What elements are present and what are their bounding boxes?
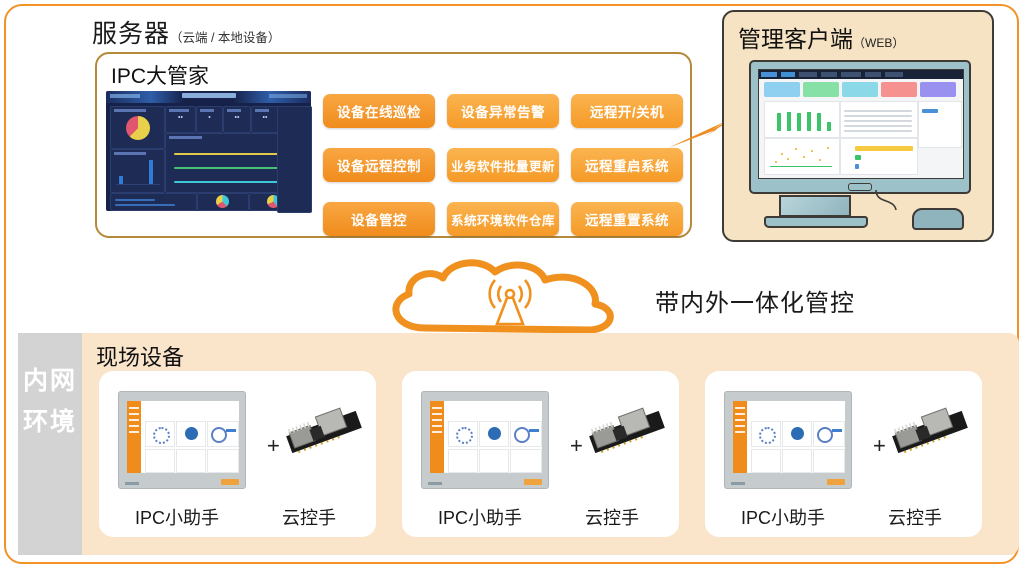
scatter-point [787,158,789,160]
dashboard-pie-card [110,106,165,149]
tablet-label: IPC小助手 [135,504,219,530]
pcb-module [584,403,670,461]
ipc-manager-title: IPC大管家 [111,60,209,90]
progress-bar [855,155,861,160]
web-dashboard-tab[interactable] [781,72,795,77]
mouse-cable [874,188,918,214]
bar [119,176,123,184]
tablet-widget [479,449,509,473]
web-stat-card-red [881,82,917,97]
gauge-icon [759,427,776,444]
web-dashboard-tab[interactable] [799,72,817,77]
tablet-widget [207,449,239,473]
dashboard-stat-card: • [196,106,223,133]
feature-button-batch-update[interactable]: 业务软件批量更新 [447,148,559,182]
tablet-widget [145,449,175,473]
module-label: 云控手 [888,504,942,530]
feature-button-remote-power[interactable]: 远程开/关机 [571,94,683,128]
web-progress-panel [840,138,918,175]
scatter-point [775,161,777,163]
dashboard-stat-card: •• [251,106,279,133]
series-line-yellow [174,153,292,155]
tablet-menu-item[interactable] [129,419,139,421]
tablet-button[interactable] [827,479,845,485]
monitor-stand-neck [779,195,851,217]
card-label [114,152,146,155]
feature-button-device-alarm[interactable]: 设备异常告警 [447,94,559,128]
scatter-point [781,153,783,155]
series-line-cyan [174,181,292,183]
tablet-sidebar [733,401,747,473]
tablet-widget [176,449,206,473]
cloud-shape [385,258,635,336]
table-row [844,120,912,122]
feature-button-grid: 设备在线巡检 设备异常告警 远程开/关机 设备远程控制 业务软件批量更新 远程重… [323,94,683,236]
device-card: + IPC小助手 云控手 [402,371,679,537]
scatter-point [803,156,805,158]
tablet-widget [207,421,239,447]
tablet-widget [145,421,175,447]
bar [777,113,781,131]
tablet-screen [127,401,239,473]
table-row [844,115,912,117]
tablet-menu-item[interactable] [432,407,442,409]
tablet-screen [733,401,845,473]
stat-value: • [208,115,210,122]
gauge-icon [456,427,473,444]
tablet-menu-item[interactable] [735,413,745,415]
tablet-screen [430,401,542,473]
mouse [912,208,964,230]
bar [787,112,791,131]
axis [116,184,160,185]
tablet-widget [813,449,845,473]
web-client-title-main: 管理客户端 [738,26,853,52]
server-title: 服务器（云端 / 本地设备） [92,14,280,50]
feature-button-remote-control[interactable]: 设备远程控制 [323,148,435,182]
dashboard-pie-card [197,193,249,211]
card-label [114,109,146,112]
gauge-icon [211,427,227,443]
web-stat-card-blue [764,82,800,97]
dashboard-topbar-right [269,94,307,98]
series-line-green [174,167,292,169]
gauge-icon [817,427,833,443]
card-label [255,109,269,112]
web-scatter-panel [764,138,840,175]
pie-chart [216,195,229,208]
module-label: 云控手 [585,504,639,530]
feature-button-remote-restart[interactable]: 远程重启系统 [571,148,683,182]
tablet-indicator [731,482,745,485]
scatter-point [811,150,813,152]
bar [807,112,811,131]
stat-value: •• [263,115,268,122]
tablet-label: IPC小助手 [741,504,825,530]
tablet-widget [510,449,542,473]
module-label: 云控手 [282,504,336,530]
web-stat-card-cyan [842,82,878,97]
plus-separator: + [570,433,583,459]
dashboard-stat-card: •• [223,106,251,133]
tablet-button[interactable] [524,479,542,485]
tablet-widget [510,421,542,447]
progress-bar [855,146,913,151]
plus-separator: + [267,433,280,459]
dashboard-topbar-left [110,94,140,98]
field-device-title: 现场设备 [96,340,184,372]
tablet-indicator [125,482,139,485]
tablet-menu-item[interactable] [129,407,139,409]
feature-button-software-repo[interactable]: 系统环境软件仓库 [447,202,559,236]
tablet-menu-item[interactable] [735,407,745,409]
gauge-icon [514,427,530,443]
side-chip [922,109,938,113]
tablet-menu-item[interactable] [432,425,442,427]
table-row [844,125,912,127]
tablet-widget [479,421,509,447]
web-client-title: 管理客户端（WEB） [738,20,904,54]
tablet-device [724,391,852,489]
monitor-screen [758,69,964,179]
tablet-sidebar [430,401,444,473]
tablet-device [421,391,549,489]
card-label [169,109,189,112]
web-dashboard-tab[interactable] [821,72,837,77]
tablet-widget [782,421,812,447]
feature-button-remote-reset[interactable]: 远程重置系统 [571,202,683,236]
progress-bar [855,164,859,169]
tablet-sidebar [127,401,141,473]
stat-value: •• [235,115,240,122]
line [115,204,175,206]
scatter-point [827,147,829,149]
tablet-menu-item[interactable] [735,419,745,421]
tablet-widget [448,421,478,447]
device-card: + IPC小助手 云控手 [99,371,376,537]
pcb-module [887,403,973,461]
tablet-widget [813,421,845,447]
baseline [770,166,832,168]
feature-button-device-management[interactable]: 设备管控 [323,202,435,236]
tablet-label: IPC小助手 [438,504,522,530]
ipc-manager-panel: IPC大管家 •• • •• •• • [95,52,692,238]
pcb-module [281,403,367,461]
gauge-icon [153,427,170,444]
tablet-menu-item[interactable] [432,431,442,433]
stat-value: •• [178,115,183,122]
bar [149,160,153,184]
web-client-title-subtitle: （WEB） [853,36,904,50]
card-label [227,109,241,112]
device-card: + IPC小助手 云控手 [705,371,982,537]
card-label [169,136,202,139]
dashboard-bar-card [110,149,165,193]
web-dashboard-logo [761,72,777,77]
web-side-panel [918,101,962,148]
line [115,199,155,201]
bar [529,429,539,432]
tablet-device [118,391,246,489]
pie-chart [126,116,150,140]
tablet-menu-item[interactable] [129,413,139,415]
status-circle-icon [791,427,804,440]
tablet-widget [782,449,812,473]
server-title-subtitle: （云端 / 本地设备） [170,31,280,45]
tablet-menu-item[interactable] [432,413,442,415]
tablet-menu-item[interactable] [129,425,139,427]
bar [832,429,842,432]
dashboard-line-card [110,193,197,211]
server-title-main: 服务器 [92,20,170,48]
tablet-widget [751,421,781,447]
bar [827,122,831,131]
tablet-button[interactable] [221,479,239,485]
tablet-indicator [428,482,442,485]
scatter-point [795,148,797,150]
web-bar-chart-panel [764,101,840,138]
bar [797,113,801,131]
web-dashboard-tab[interactable] [841,72,861,77]
status-circle-icon [488,427,501,440]
intranet-panel: 内网环境 [18,333,82,555]
tablet-widget [448,449,478,473]
card-label [200,109,214,112]
web-table-panel [840,101,918,138]
scatter-point [819,159,821,161]
intranet-label: 内网环境 [18,361,82,443]
diagram-canvas: 服务器（云端 / 本地设备） IPC大管家 •• • • [0,0,1027,571]
dashboard-topbar-title [182,93,236,98]
bar [226,429,236,432]
web-dashboard-tab[interactable] [865,72,881,77]
bar [817,113,821,131]
tablet-menu-item[interactable] [432,419,442,421]
status-circle-icon [185,427,198,440]
monitor-notch [848,183,872,191]
tablet-menu-item[interactable] [735,431,745,433]
feature-button-device-inspection[interactable]: 设备在线巡检 [323,94,435,128]
table-row [844,130,912,132]
tablet-widget [751,449,781,473]
web-client-box: 管理客户端（WEB） [722,10,994,242]
tablet-menu-item[interactable] [129,431,139,433]
dashboard-stat-card: •• [165,106,196,133]
dashboard-side-list [277,106,312,213]
tablet-menu-item[interactable] [735,425,745,427]
monitor-stand-base [764,216,868,228]
table-row [844,110,912,112]
tablet-widget [176,421,206,447]
plus-separator: + [873,433,886,459]
cloud-label: 带内外一体化管控 [655,283,855,318]
web-stat-card-purple [920,82,956,97]
monitor [749,60,971,194]
dashboard-table-card [265,106,267,108]
web-stat-card-green [803,82,839,97]
web-dashboard-tab[interactable] [885,72,903,77]
